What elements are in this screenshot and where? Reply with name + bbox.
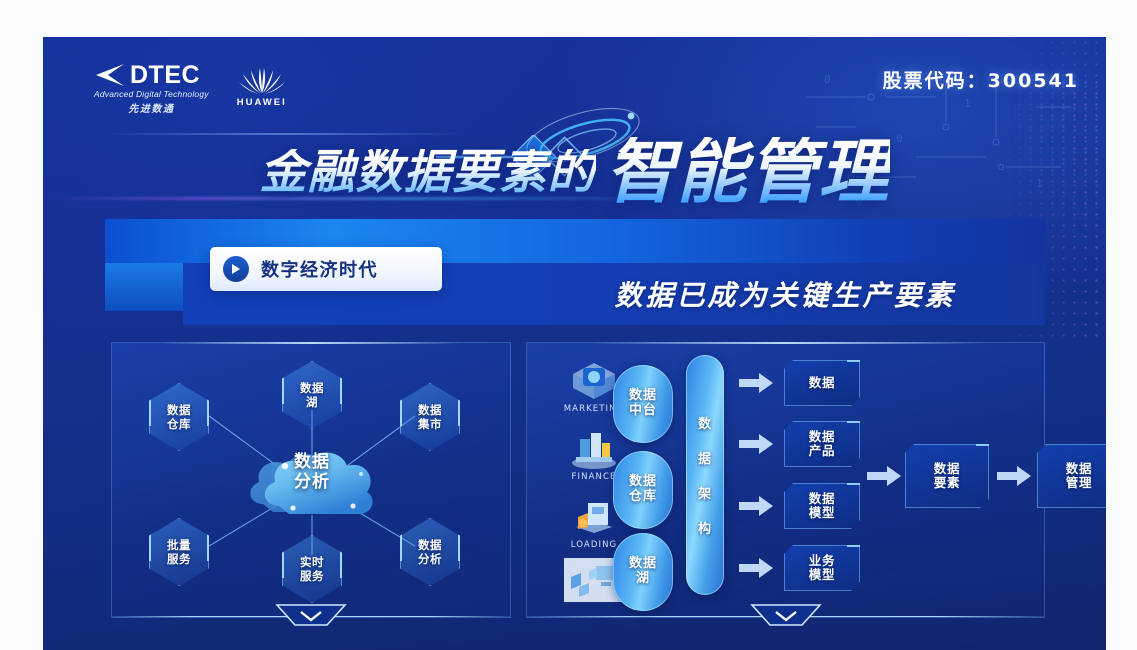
hex-node-label: 数据集市 bbox=[400, 383, 460, 451]
corner-accent bbox=[847, 360, 860, 373]
output-box-data-model[interactable]: 数据模型 bbox=[784, 483, 860, 529]
hex-node-data-mart[interactable]: 数据集市 bbox=[400, 383, 460, 451]
output-box-data[interactable]: 数据 bbox=[784, 360, 860, 406]
hex-node-label: 数据分析 bbox=[400, 518, 460, 586]
right-diagram-panel: MARKETING FINANCE LOADING bbox=[526, 342, 1045, 618]
dtec-logo: DTEC Advanced Digital Technology 先进数通 bbox=[94, 62, 209, 115]
panel-top-glow bbox=[589, 342, 982, 344]
arrow-right-icon bbox=[739, 557, 773, 579]
result-box-data-element[interactable]: 数据要素 bbox=[905, 444, 989, 508]
corner-accent bbox=[847, 545, 860, 558]
huawei-wordmark: HUAWEI bbox=[237, 97, 287, 108]
arch-char: 架 bbox=[698, 483, 712, 502]
huawei-logo: HUAWEI bbox=[237, 62, 287, 108]
arrow-right-icon bbox=[997, 465, 1031, 487]
output-box-business-model[interactable]: 业务模型 bbox=[784, 545, 860, 591]
section-badge[interactable]: 数字经济时代 bbox=[210, 247, 442, 291]
arrow-right-icon bbox=[739, 372, 773, 394]
hex-node-data-lake[interactable]: 数据湖 bbox=[282, 361, 342, 429]
stage-pill-data-midend[interactable]: 数据中台 bbox=[613, 365, 673, 443]
panel-top-glow bbox=[160, 342, 462, 344]
hex-node-data-warehouse[interactable]: 数据仓库 bbox=[149, 383, 209, 451]
dtec-chinese-name: 先进数通 bbox=[94, 100, 209, 115]
header-glow-line bbox=[103, 133, 463, 135]
huawei-flower-icon bbox=[239, 64, 285, 94]
hex-node-label: 批量服务 bbox=[149, 518, 209, 586]
dtec-tagline: Advanced Digital Technology bbox=[94, 89, 209, 99]
presentation-slide: 010 10 DTEC Advanced Digital Technology … bbox=[43, 37, 1106, 650]
hex-node-data-analysis[interactable]: 数据分析 bbox=[400, 518, 460, 586]
slide-title: 金融数据要素的 智能管理 bbox=[43, 137, 1106, 207]
section-banner: 数字经济时代 数据已成为关键生产要素 bbox=[105, 219, 1045, 332]
center-node-label: 数据 分析 bbox=[249, 453, 375, 492]
logo-group: DTEC Advanced Digital Technology 先进数通 HU… bbox=[94, 62, 287, 115]
hex-node-batch-service[interactable]: 批量服务 bbox=[149, 518, 209, 586]
arrow-right-icon bbox=[867, 465, 901, 487]
chart-server-icon bbox=[568, 427, 620, 471]
hex-node-label: 实时服务 bbox=[282, 535, 342, 603]
arrow-right-icon bbox=[739, 433, 773, 455]
stock-code-label: 股票代码：300541 bbox=[883, 66, 1079, 93]
section-badge-label: 数字经济时代 bbox=[261, 256, 378, 282]
output-box-data-product[interactable]: 数据产品 bbox=[784, 421, 860, 467]
dtec-mark-icon bbox=[94, 62, 128, 88]
corner-accent bbox=[847, 421, 860, 434]
stage-pill-data-warehouse[interactable]: 数据仓库 bbox=[613, 451, 673, 529]
corner-accent bbox=[976, 444, 989, 457]
banner-step-block bbox=[105, 263, 183, 311]
arch-char: 构 bbox=[698, 518, 712, 537]
title-part-2: 智能管理 bbox=[606, 137, 890, 207]
banner-headline: 数据已成为关键生产要素 bbox=[525, 263, 1045, 325]
final-box-data-management[interactable]: 数据管理 bbox=[1037, 444, 1106, 508]
play-icon bbox=[223, 256, 249, 282]
title-part-1: 金融数据要素的 bbox=[260, 149, 596, 196]
left-diagram-panel: 数据 分析 数据仓库 数据湖 数据集市 bbox=[111, 342, 511, 618]
architecture-pill[interactable]: 数 据 架 构 bbox=[686, 355, 724, 595]
hex-node-label: 数据仓库 bbox=[149, 383, 209, 451]
arrow-right-icon bbox=[739, 495, 773, 517]
corner-accent bbox=[847, 483, 860, 496]
chevron-down-icon bbox=[275, 603, 347, 629]
hex-node-label: 数据湖 bbox=[282, 361, 342, 429]
arch-char: 数 bbox=[698, 413, 712, 432]
hex-node-realtime-service[interactable]: 实时服务 bbox=[282, 535, 342, 603]
arch-char: 据 bbox=[698, 448, 712, 467]
svg-text:1: 1 bbox=[964, 97, 971, 110]
dtec-wordmark: DTEC bbox=[130, 62, 200, 88]
stage-pill-data-lake[interactable]: 数据湖 bbox=[613, 533, 673, 611]
chevron-down-icon bbox=[750, 603, 822, 629]
svg-text:0: 0 bbox=[824, 73, 831, 86]
